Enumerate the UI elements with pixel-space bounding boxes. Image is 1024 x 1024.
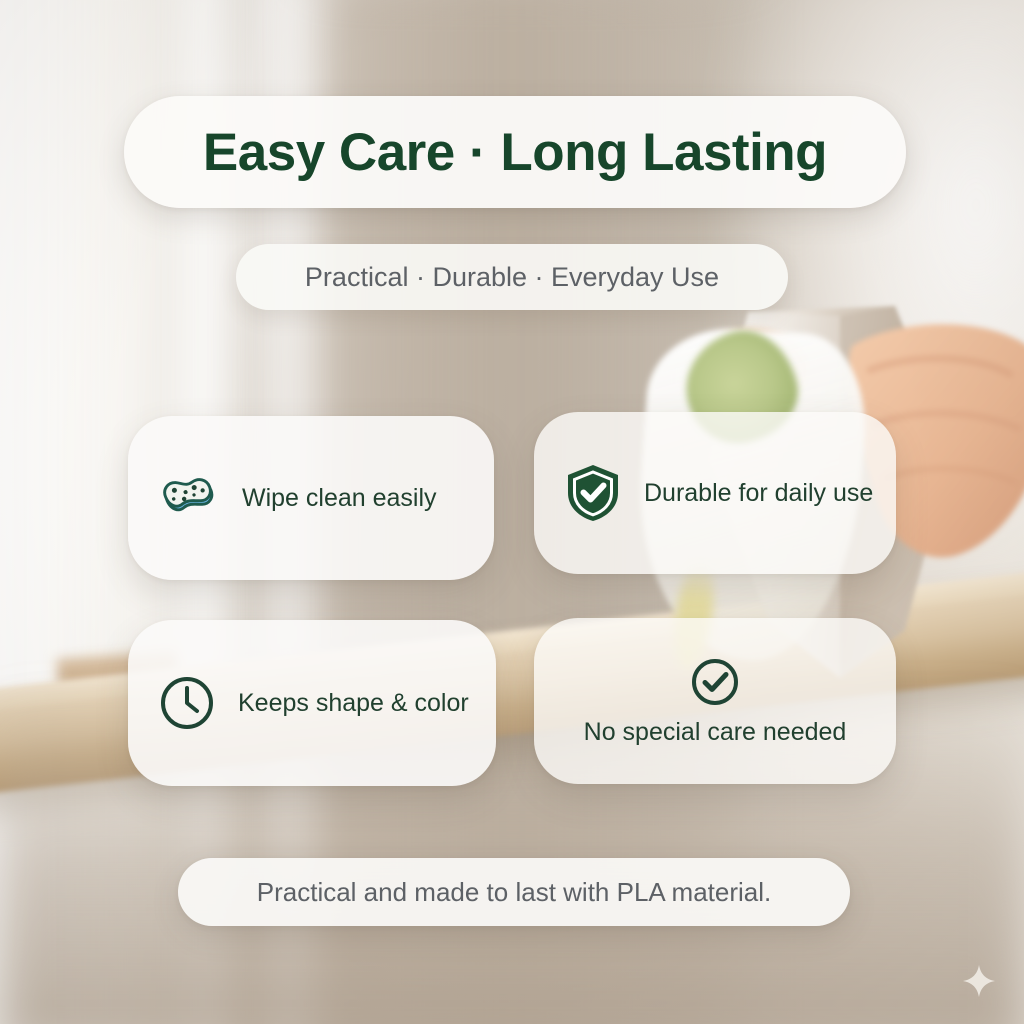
sparkle-icon bbox=[962, 964, 996, 998]
overlay-content: Easy Care · Long Lasting Practical · Dur… bbox=[0, 0, 1024, 1024]
page-subtitle: Practical · Durable · Everyday Use bbox=[305, 262, 719, 293]
clock-icon bbox=[158, 674, 216, 732]
title-pill: Easy Care · Long Lasting bbox=[124, 96, 906, 208]
feature-label: No special care needed bbox=[584, 718, 847, 747]
infographic-canvas: Easy Care · Long Lasting Practical · Dur… bbox=[0, 0, 1024, 1024]
check-circle-icon bbox=[689, 656, 741, 708]
feature-card-wipe-clean[interactable]: Wipe clean easily bbox=[128, 416, 494, 580]
feature-card-no-special-care[interactable]: No special care needed bbox=[534, 618, 896, 784]
footer-text: Practical and made to last with PLA mate… bbox=[257, 877, 771, 908]
feature-card-durable[interactable]: Durable for daily use bbox=[534, 412, 896, 574]
feature-label: Keeps shape & color bbox=[238, 689, 469, 718]
shield-check-icon bbox=[564, 462, 622, 524]
footer-pill: Practical and made to last with PLA mate… bbox=[178, 858, 850, 926]
page-title: Easy Care · Long Lasting bbox=[203, 122, 827, 183]
feature-card-keeps-shape[interactable]: Keeps shape & color bbox=[128, 620, 496, 786]
sponge-icon bbox=[158, 467, 220, 529]
feature-label: Durable for daily use bbox=[644, 479, 873, 508]
feature-label: Wipe clean easily bbox=[242, 484, 437, 513]
subtitle-pill: Practical · Durable · Everyday Use bbox=[236, 244, 788, 310]
